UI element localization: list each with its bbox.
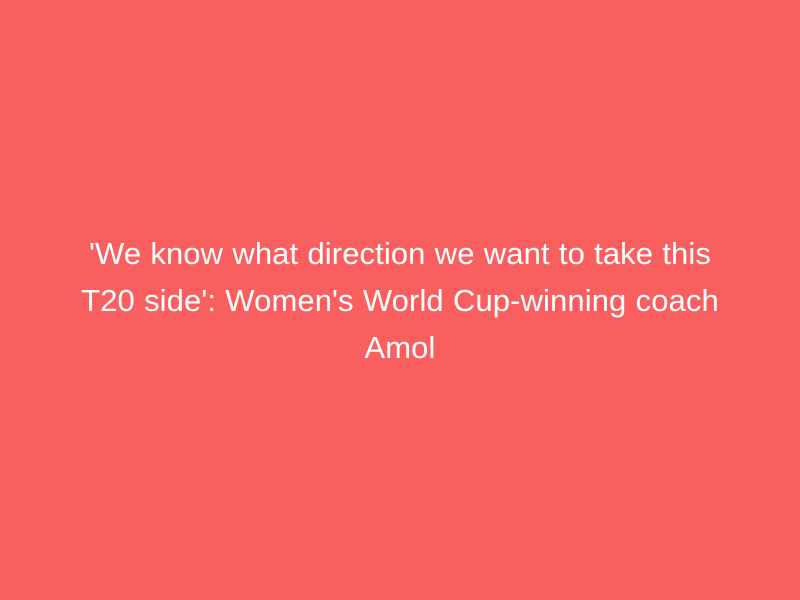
headline-block: 'We know what direction we want to take … [55,230,745,371]
article-placeholder-card: 'We know what direction we want to take … [0,0,800,600]
article-headline: 'We know what direction we want to take … [65,230,735,371]
